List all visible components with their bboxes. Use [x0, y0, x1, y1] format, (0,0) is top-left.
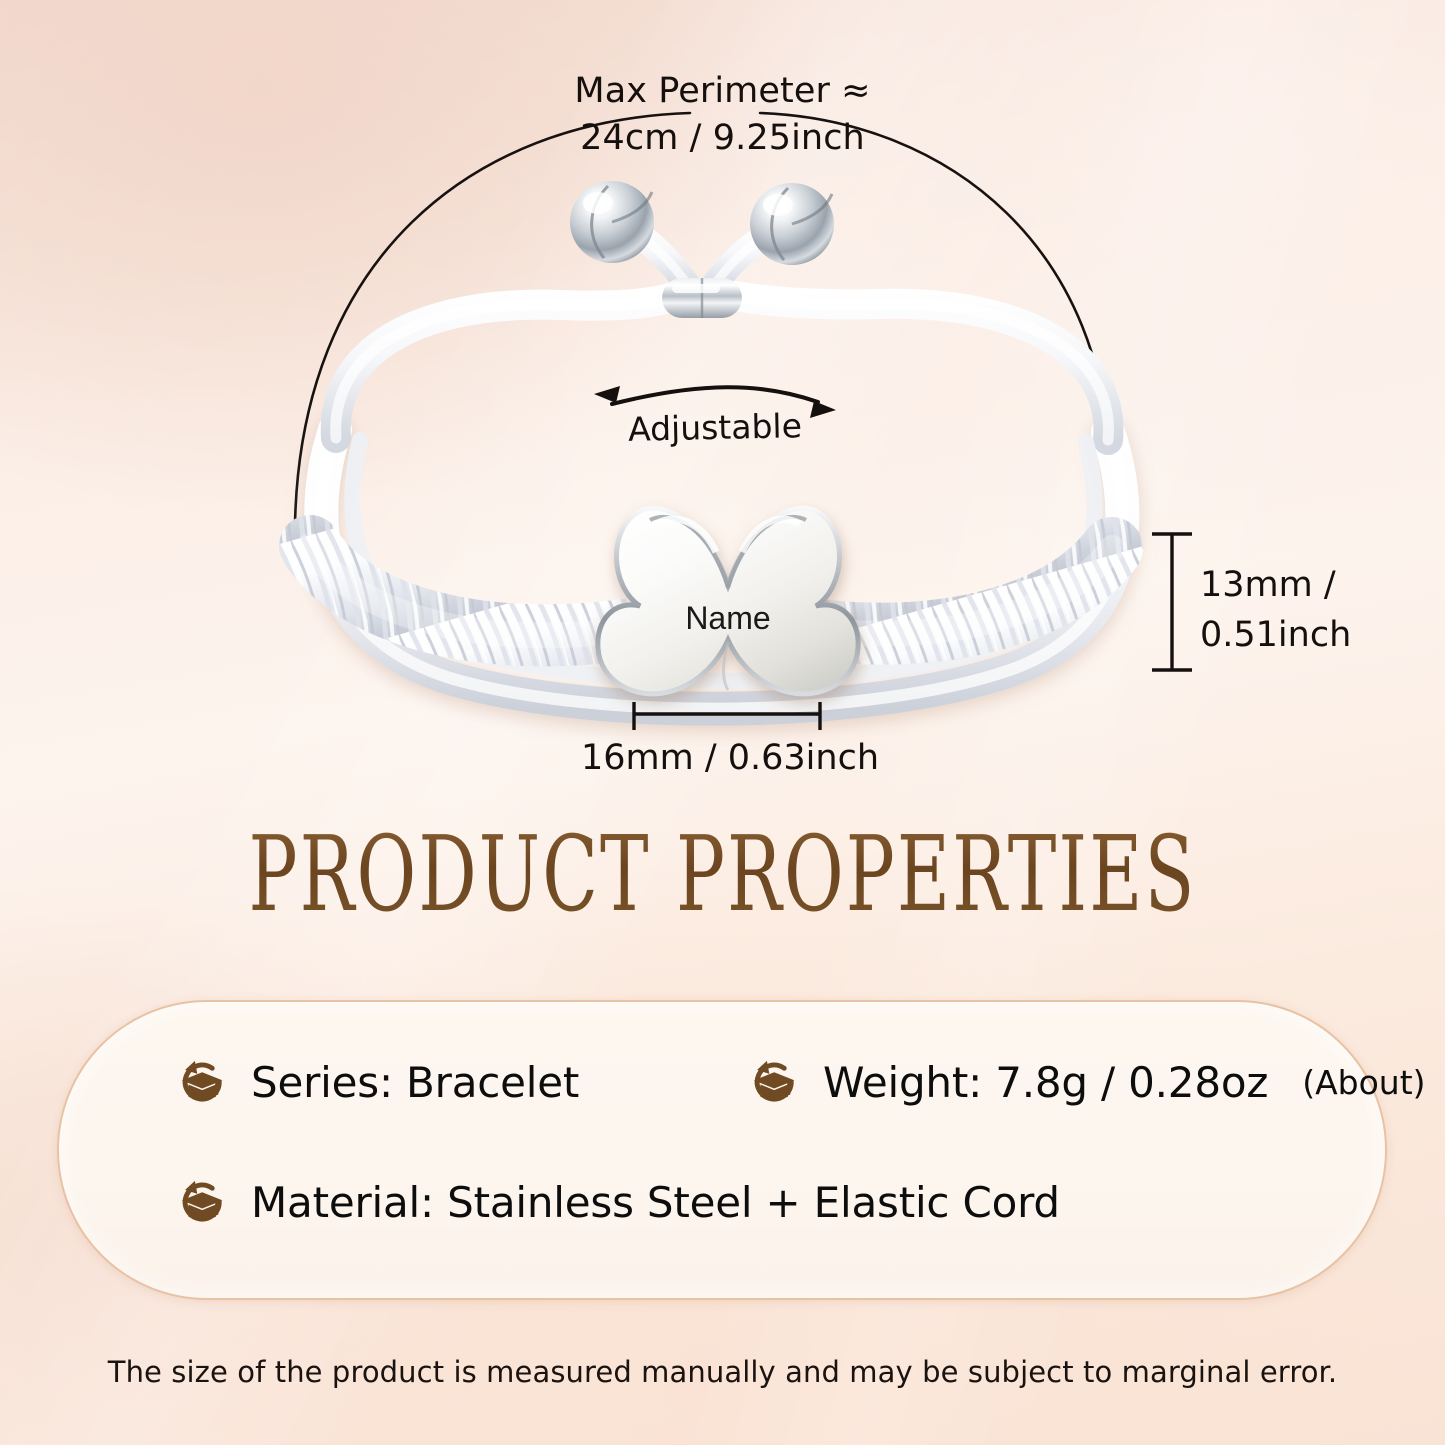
product-diagram: Max Perimeter ≈ 24cm / 9.25inch Adjustab…	[0, 0, 1445, 810]
max-perimeter-line1: Max Perimeter ≈	[0, 68, 1445, 115]
height-dimension-line2: 0.51inch	[1200, 610, 1351, 660]
slider-bead-left	[570, 181, 654, 263]
max-perimeter-label: Max Perimeter ≈ 24cm / 9.25inch	[0, 68, 1445, 162]
max-perimeter-line2: 24cm / 9.25inch	[0, 115, 1445, 162]
property-label-series: Series: Bracelet	[251, 1058, 579, 1107]
braided-section-left	[310, 546, 625, 635]
property-row-material: Material: Stainless Steel + Elastic Cord	[177, 1176, 1060, 1228]
width-dimension-label: 16mm / 0.63inch	[560, 738, 900, 778]
graduation-cap-refresh-icon	[177, 1176, 229, 1228]
property-label-weight: Weight: 7.8g / 0.28oz	[823, 1058, 1268, 1107]
adjuster-barrel-bead	[662, 278, 742, 318]
infographic-canvas: Max Perimeter ≈ 24cm / 9.25inch Adjustab…	[0, 0, 1445, 1445]
measurement-disclaimer: The size of the product is measured manu…	[0, 1355, 1445, 1389]
graduation-cap-refresh-icon	[177, 1056, 229, 1108]
graduation-cap-refresh-icon	[749, 1056, 801, 1108]
adjustable-label: Adjustable	[595, 405, 836, 449]
property-label-material: Material: Stainless Steel + Elastic Cord	[251, 1178, 1060, 1227]
property-row-series: Series: Bracelet	[177, 1056, 579, 1108]
slider-bead-right	[750, 183, 834, 265]
property-note-weight: (About)	[1302, 1063, 1425, 1102]
height-dimension-label: 13mm / 0.51inch	[1200, 560, 1351, 660]
page-title: PRODUCT PROPERTIES	[217, 818, 1229, 930]
product-properties-panel: Series: Bracelet Weight: 7.8g / 0.28oz (…	[57, 1000, 1387, 1300]
braided-section-right	[818, 548, 1112, 634]
property-row-weight: Weight: 7.8g / 0.28oz (About)	[749, 1056, 1426, 1108]
charm-engraving-text: Name	[628, 600, 828, 637]
height-dimension-line1: 13mm /	[1200, 560, 1351, 610]
height-dimension-line	[1152, 534, 1192, 670]
